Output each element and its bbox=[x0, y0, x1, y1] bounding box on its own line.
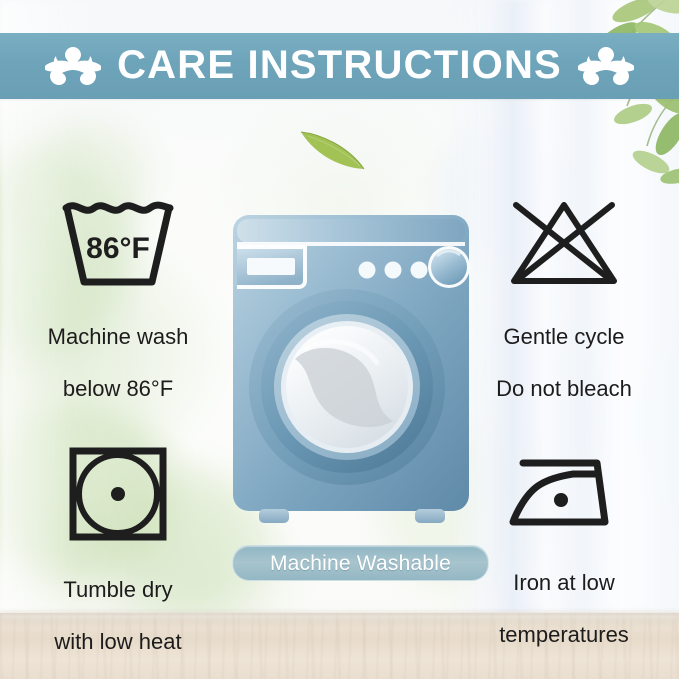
wash-tub-icon: 86°F bbox=[54, 196, 182, 292]
care-instructions-infographic: CARE INSTRUCTIONS 86°F Machine wash belo… bbox=[0, 0, 679, 679]
care-item-iron: Iron at low temperatures bbox=[464, 452, 664, 648]
caption-line-1: Tumble dry bbox=[63, 577, 172, 602]
indicator-light bbox=[359, 262, 376, 279]
control-dial[interactable] bbox=[431, 249, 467, 285]
caption-line-1: Gentle cycle bbox=[503, 324, 624, 349]
caption-line-1: Machine wash bbox=[48, 324, 189, 349]
floating-leaf bbox=[298, 126, 370, 172]
washer-foot bbox=[415, 509, 445, 523]
indicator-light bbox=[385, 262, 402, 279]
caption-line-2: temperatures bbox=[499, 622, 629, 647]
machine-washable-badge: Machine Washable bbox=[232, 545, 489, 581]
caption-line-2: Do not bleach bbox=[496, 376, 632, 401]
care-item-caption: Tumble dry with low heat bbox=[18, 551, 218, 655]
fleur-de-lis-ornament-right bbox=[578, 43, 634, 89]
tumble-dry-low-icon bbox=[63, 443, 173, 545]
indicator-light bbox=[411, 262, 428, 279]
caption-line-2: below 86°F bbox=[63, 376, 173, 401]
care-item-machine-wash: 86°F Machine wash below 86°F bbox=[18, 196, 218, 402]
header-banner: CARE INSTRUCTIONS bbox=[0, 33, 679, 99]
detergent-drawer-slot bbox=[247, 258, 295, 275]
no-bleach-triangle-icon bbox=[500, 196, 628, 292]
page-title: CARE INSTRUCTIONS bbox=[117, 45, 562, 87]
care-item-caption: Gentle cycle Do not bleach bbox=[464, 298, 664, 402]
care-item-no-bleach: Gentle cycle Do not bleach bbox=[464, 196, 664, 402]
machine-washable-label: Machine Washable bbox=[270, 553, 451, 574]
washer-foot bbox=[259, 509, 289, 523]
care-item-tumble-dry: Tumble dry with low heat bbox=[18, 443, 218, 655]
care-item-caption: Iron at low temperatures bbox=[464, 544, 664, 648]
iron-low-heat-icon bbox=[501, 452, 627, 538]
wash-temperature-value: 86°F bbox=[86, 232, 150, 265]
front-load-washing-machine bbox=[227, 209, 475, 539]
caption-line-1: Iron at low bbox=[513, 570, 615, 595]
care-item-caption: Machine wash below 86°F bbox=[18, 298, 218, 402]
fleur-de-lis-ornament-left bbox=[45, 43, 101, 89]
washer-top-strip bbox=[237, 219, 465, 243]
caption-line-2: with low heat bbox=[54, 629, 181, 654]
